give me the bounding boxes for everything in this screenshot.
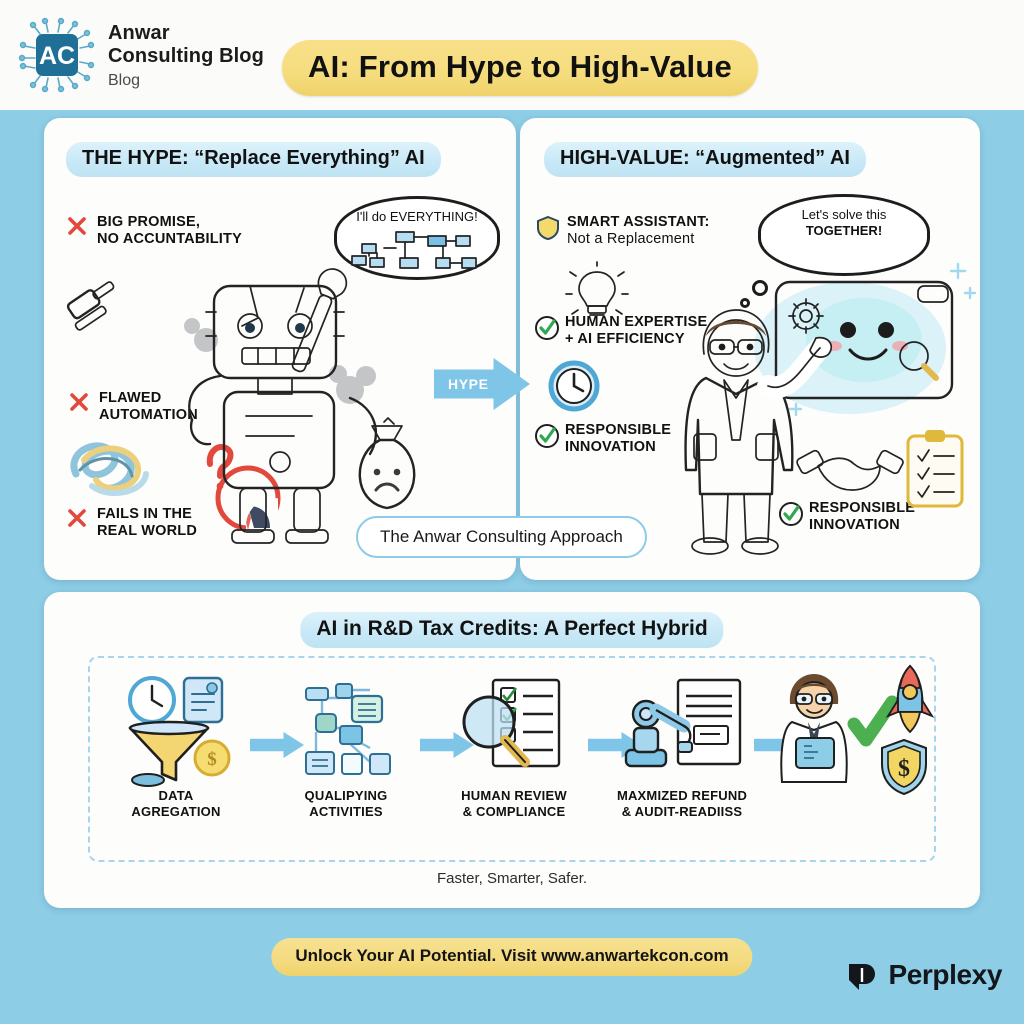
pipeline-container: $ DATA AGREGATION (88, 656, 936, 862)
hype-bullet-1-text: BIG PROMISE, NO ACCUNTABILITY (97, 214, 242, 248)
engineer-with-tablet-icon (781, 674, 846, 782)
pipeline-stage-1: $ DATA AGREGATION (100, 670, 252, 820)
final-outcome-art: $ (780, 664, 930, 794)
pipeline-stage-1-caption: DATA AGREGATION (100, 788, 252, 820)
stage-4-line2: & AUDIT-READIISS (622, 804, 742, 819)
value-panel-heading: HIGH-VALUE: “Augmented” AI (544, 142, 866, 177)
watermark-text: Perplexy (888, 959, 1002, 991)
sad-money-bag-icon (344, 418, 430, 522)
hype-bullet-1-line1: BIG PROMISE, (97, 214, 200, 230)
brand-text: Anwar Consulting Blog Blog (108, 16, 264, 90)
bubble-dot-small (740, 298, 750, 308)
magnifier-checklist-icon (438, 670, 590, 788)
hype-arrow-label: HYPE (448, 376, 489, 392)
green-check-icon (854, 702, 892, 740)
value-bullet-1-text: SMART ASSISTANT: Not a Replacement (567, 214, 710, 248)
main-title-wrap: AI: From Hype to High-Value (282, 40, 758, 96)
green-check-circle-icon (534, 423, 556, 445)
tangled-wires-icon (66, 430, 158, 508)
funnel-clock-data-icon: $ (100, 670, 252, 788)
bubble-dot-large (752, 280, 768, 296)
hybrid-tagline: Faster, Smarter, Safer. (44, 870, 980, 887)
scientist-with-ai-screen-illustration (680, 244, 980, 554)
pipeline-stage-2: QUALIPYING ACTIVITIES (270, 670, 422, 820)
page-title: AI: From Hype to High-Value (282, 40, 758, 96)
handshake-icon (796, 449, 905, 490)
dollar-shield-icon: $ (882, 740, 926, 794)
value-bullet-3-line1: RESPONSIBLE (565, 422, 671, 438)
value-bullet-1-line1: SMART ASSISTANT: (567, 214, 710, 230)
red-x-icon (66, 215, 88, 237)
perplexy-logo-icon (845, 958, 879, 992)
red-x-icon (68, 391, 90, 413)
brand-subtitle: Blog (108, 72, 264, 90)
svg-text:AC: AC (39, 42, 75, 70)
stage-1-line2: AGREGATION (131, 804, 220, 819)
hype-panel: THE HYPE: “Replace Everything” AI BIG PR… (44, 118, 516, 580)
svg-text:$: $ (207, 749, 217, 770)
stage-1-line1: DATA (159, 788, 194, 803)
robot-arm-document-icon (606, 670, 758, 788)
hype-bullet-1-line2: NO ACCUNTABILITY (97, 231, 242, 247)
network-nodes-icon (270, 670, 422, 788)
stage-2-line2: ACTIVITIES (309, 804, 383, 819)
value-bubble-text: Let's solve this TOGETHER! (802, 207, 887, 239)
pipeline-stage-3-caption: HUMAN REVIEW & COMPLIANCE (438, 788, 590, 820)
approach-pill: The Anwar Consulting Approach (356, 516, 647, 558)
hybrid-panel: AI in R&D Tax Credits: A Perfect Hybrid … (44, 592, 980, 908)
value-bubble-line1: Let's solve this (802, 207, 887, 222)
svg-text:$: $ (898, 756, 910, 782)
hype-panel-heading: THE HYPE: “Replace Everything” AI (66, 142, 441, 177)
value-bullet-3-line2: INNOVATION (565, 439, 656, 455)
stage-2-line1: QUALIPYING (305, 788, 388, 803)
red-x-icon (66, 507, 88, 529)
value-bullet-2-line2: + AI EFFICIENCY (565, 331, 685, 347)
brand-title-line1: Anwar (108, 22, 264, 45)
green-check-circle-icon (534, 315, 556, 337)
flowchart-diagram-icon (344, 228, 490, 278)
watermark: Perplexy (845, 958, 1002, 992)
brand-block: AC Anwar Consulting Blog Blog (18, 16, 264, 94)
value-bullet-1-line2: Not a Replacement (567, 231, 695, 247)
brand-title-line2: Consulting Blog (108, 45, 264, 68)
ac-chip-logo-icon: AC (18, 16, 96, 94)
hype-bullet-1: BIG PROMISE, NO ACCUNTABILITY (66, 214, 242, 248)
value-bullet-1: SMART ASSISTANT: Not a Replacement (536, 214, 710, 248)
value-speech-bubble: Let's solve this TOGETHER! (758, 194, 930, 276)
value-panel: HIGH-VALUE: “Augmented” AI SMART ASSISTA… (520, 118, 980, 580)
value-bullet-3: RESPONSIBLE INNOVATION (534, 422, 671, 456)
value-bubble-line2: TOGETHER! (806, 223, 882, 238)
clock-icon (546, 358, 602, 414)
hype-bubble-text: I'll do EVERYTHING! (356, 209, 477, 225)
stage-3-line2: & COMPLIANCE (463, 804, 566, 819)
stage-4-line1: MAXMIZED REFUND (617, 788, 747, 803)
gavel-icon (66, 274, 132, 344)
checklist-clipboard-icon (908, 430, 962, 506)
pipeline-stage-4-caption: MAXMIZED REFUND & AUDIT-READIISS (606, 788, 758, 820)
hybrid-panel-heading: AI in R&D Tax Credits: A Perfect Hybrid (300, 612, 723, 648)
stage-3-line1: HUMAN REVIEW (461, 788, 567, 803)
shield-icon (536, 215, 558, 237)
page-header: AC Anwar Consulting Blog Blog AI: From H… (0, 0, 1024, 110)
footer-cta[interactable]: Unlock Your AI Potential. Visit www.anwa… (271, 938, 752, 976)
pipeline-stage-2-caption: QUALIPYING ACTIVITIES (270, 788, 422, 820)
pipeline-stage-4: MAXMIZED REFUND & AUDIT-READIISS (606, 670, 758, 820)
hype-bullet-2-line1: FLAWED (99, 390, 161, 406)
pipeline-stage-3: HUMAN REVIEW & COMPLIANCE (438, 670, 590, 820)
value-bullet-3-text: RESPONSIBLE INNOVATION (565, 422, 671, 456)
